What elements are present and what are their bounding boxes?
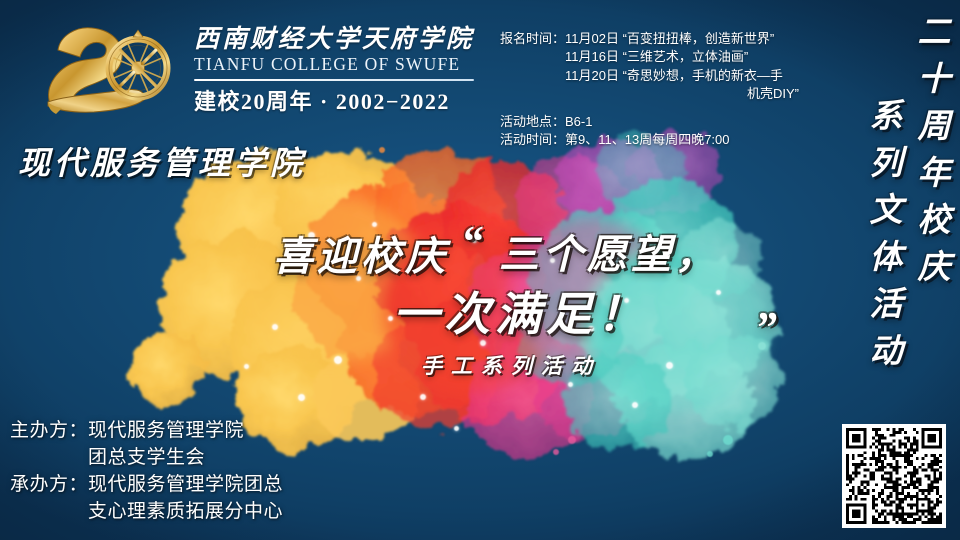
coorganizer-row: 承办方： 现代服务管理学院团总 支心理素质拓展分中心 <box>10 472 283 526</box>
event-time-value: 第9、11、13周每周四晚7:00 <box>565 131 730 149</box>
signup-item-continued: 机壳DIY” <box>565 85 845 103</box>
department-title: 现代服务管理学院 <box>18 138 306 184</box>
host-line: 团总支学生会 <box>88 445 283 472</box>
college-logo: 西南财经大学天府学院 TIANFU COLLEGE OF SWUFE 建校20周… <box>34 16 474 120</box>
logo-text-block: 西南财经大学天府学院 TIANFU COLLEGE OF SWUFE 建校20周… <box>194 20 474 116</box>
signup-time-row: 报名时间： 11月02日 “百变扭扭棒，创造新世界” 11月16日 “三维艺术，… <box>500 30 845 104</box>
vertical-title-column-2: 系列文体活动 <box>858 98 906 380</box>
coorganizer-values: 现代服务管理学院团总 支心理素质拓展分中心 <box>88 472 283 526</box>
signup-item: 11月02日 “百变扭扭棒，创造新世界” <box>565 30 845 48</box>
signup-item: 11月16日 “三维艺术，立体油画” <box>565 48 845 66</box>
event-time-row: 活动时间： 第9、11、13周每周四晚7:00 <box>500 131 845 149</box>
logo-college-name-cn: 西南财经大学天府学院 <box>194 26 474 53</box>
vertical-title-column-1: 二十周年校庆 <box>906 14 954 296</box>
signup-item: 11月20日 “奇思妙想，手机的新衣—手 <box>565 67 845 85</box>
host-values: 现代服务管理学院 团总支学生会 <box>88 418 283 472</box>
qr-code[interactable] <box>842 424 946 528</box>
logo-anniversary-line: 建校20周年 · 2002−2022 <box>194 84 474 116</box>
host-label: 主办方： <box>10 418 88 445</box>
event-place-label: 活动地点： <box>500 113 565 131</box>
organizers-block: 主办方： 现代服务管理学院 团总支学生会 承办方： 现代服务管理学院团总 支心理… <box>10 418 283 526</box>
coorganizer-line: 现代服务管理学院团总 <box>88 472 283 499</box>
event-place-value: B6-1 <box>565 113 592 131</box>
coorganizer-line: 支心理素质拓展分中心 <box>88 499 283 526</box>
logo-college-name-en: TIANFU COLLEGE OF SWUFE <box>194 54 474 75</box>
event-info-block: 报名时间： 11月02日 “百变扭扭棒，创造新世界” 11月16日 “三维艺术，… <box>500 30 845 150</box>
signup-time-label: 报名时间： <box>500 30 565 48</box>
poster-canvas: 西南财经大学天府学院 TIANFU COLLEGE OF SWUFE 建校20周… <box>0 0 960 540</box>
host-line: 现代服务管理学院 <box>88 418 283 445</box>
host-row: 主办方： 现代服务管理学院 团总支学生会 <box>10 418 283 472</box>
coorganizer-label: 承办方： <box>10 472 88 499</box>
event-place-row: 活动地点： B6-1 <box>500 113 845 131</box>
anniversary-20-emblem-icon <box>34 16 184 120</box>
logo-divider <box>194 79 474 81</box>
event-time-label: 活动时间： <box>500 131 565 149</box>
signup-time-values: 11月02日 “百变扭扭棒，创造新世界” 11月16日 “三维艺术，立体油画” … <box>565 30 845 104</box>
